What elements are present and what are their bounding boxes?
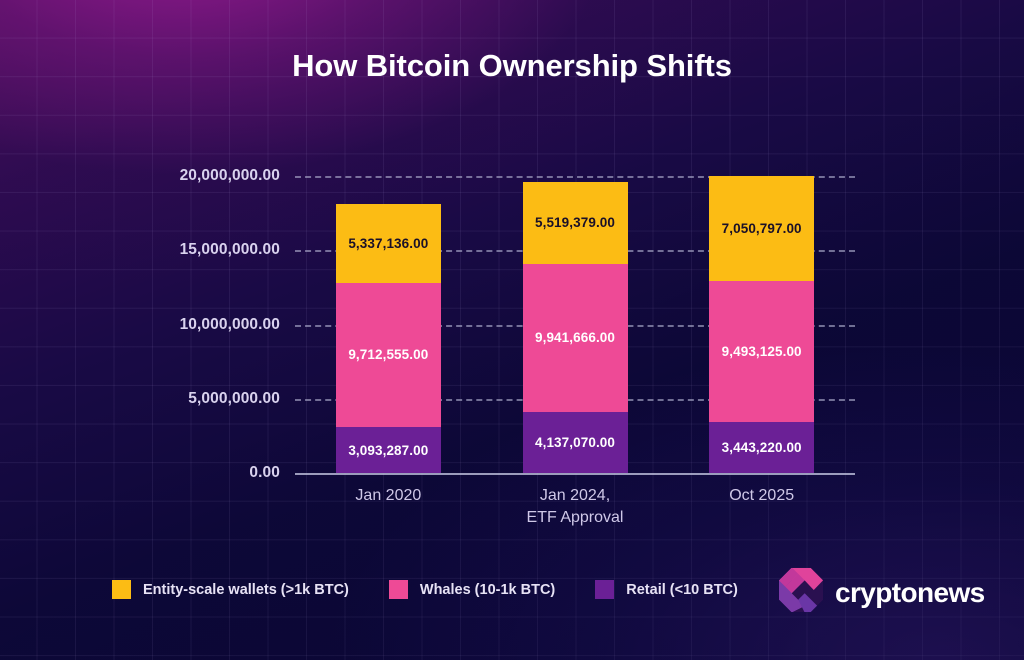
y-axis-tick-label: 0.00 — [40, 464, 280, 482]
bar-segment-value-label: 7,050,797.00 — [722, 221, 802, 236]
bar-segment-entity: 5,519,379.00 — [523, 182, 628, 264]
y-axis-tick-label: 20,000,000.00 — [40, 167, 280, 185]
axis-baseline — [295, 473, 855, 475]
legend-label-whales: Whales (10-1k BTC) — [420, 582, 555, 598]
bar-segment-retail: 3,093,287.00 — [336, 427, 441, 473]
bar-segment-retail: 4,137,070.00 — [523, 412, 628, 473]
stacked-bar: 7,050,797.009,493,125.003,443,220.00 — [709, 176, 814, 473]
legend-label-retail: Retail (<10 BTC) — [626, 582, 738, 598]
chart-legend: Entity-scale wallets (>1k BTC)Whales (10… — [112, 580, 738, 599]
legend-label-entity: Entity-scale wallets (>1k BTC) — [143, 582, 349, 598]
bar-segment-value-label: 9,712,555.00 — [348, 347, 428, 362]
stacked-bar: 5,337,136.009,712,555.003,093,287.00 — [336, 204, 441, 473]
cryptonews-wordmark: cryptonews — [835, 577, 985, 609]
legend-item-retail[interactable]: Retail (<10 BTC) — [595, 580, 738, 599]
infographic-canvas: How Bitcoin Ownership Shifts 0.005,000,0… — [0, 0, 1024, 660]
bar-segment-retail: 3,443,220.00 — [709, 422, 814, 473]
x-axis-label-line: Jan 2020 — [288, 485, 488, 507]
legend-item-entity[interactable]: Entity-scale wallets (>1k BTC) — [112, 580, 349, 599]
x-axis-label: Jan 2020 — [288, 485, 488, 507]
bar-segment-entity: 7,050,797.00 — [709, 176, 814, 281]
bar-segment-value-label: 3,443,220.00 — [722, 440, 802, 455]
cryptonews-logo[interactable]: cryptonews — [778, 567, 985, 618]
x-axis-label: Oct 2025 — [662, 485, 862, 507]
bar-segment-value-label: 4,137,070.00 — [535, 435, 615, 450]
x-axis-label-line: Jan 2024, — [475, 485, 675, 507]
y-axis-tick-label: 15,000,000.00 — [40, 241, 280, 259]
bar-segment-value-label: 9,941,666.00 — [535, 330, 615, 345]
bar-segment-whales: 9,941,666.00 — [523, 264, 628, 412]
page-title: How Bitcoin Ownership Shifts — [0, 48, 1024, 84]
stacked-bar: 5,519,379.009,941,666.004,137,070.00 — [523, 182, 628, 473]
bar-segment-value-label: 3,093,287.00 — [348, 443, 428, 458]
x-axis-label: Jan 2024,ETF Approval — [475, 485, 675, 529]
x-axis-label-line: Oct 2025 — [662, 485, 862, 507]
x-axis-label-line: ETF Approval — [475, 507, 675, 529]
bar-segment-whales: 9,493,125.00 — [709, 281, 814, 422]
y-axis-tick-label: 10,000,000.00 — [40, 316, 280, 334]
bar-segment-value-label: 9,493,125.00 — [722, 344, 802, 359]
y-axis-tick-label: 5,000,000.00 — [40, 390, 280, 408]
bar-segment-value-label: 5,519,379.00 — [535, 215, 615, 230]
legend-swatch-retail — [595, 580, 614, 599]
legend-swatch-entity — [112, 580, 131, 599]
bar-segment-value-label: 5,337,136.00 — [348, 236, 428, 251]
legend-item-whales[interactable]: Whales (10-1k BTC) — [389, 580, 555, 599]
legend-swatch-whales — [389, 580, 408, 599]
bar-segment-whales: 9,712,555.00 — [336, 283, 441, 427]
chart-plot-area: 0.005,000,000.0010,000,000.0015,000,000.… — [295, 176, 855, 473]
cryptonews-hex-logo-icon — [778, 567, 824, 618]
bar-segment-entity: 5,337,136.00 — [336, 204, 441, 283]
